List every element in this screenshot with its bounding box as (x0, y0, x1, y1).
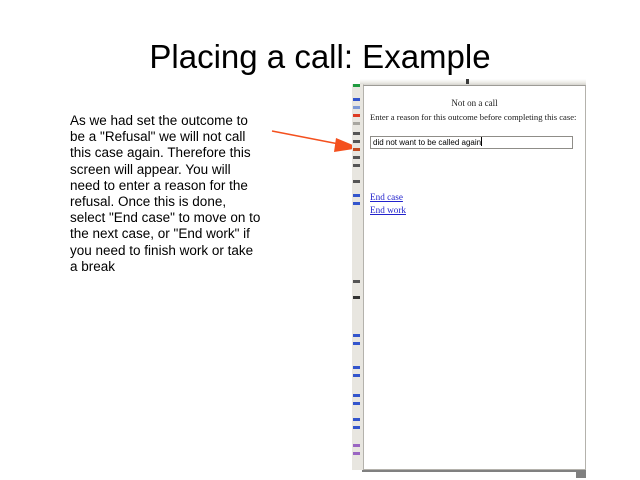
panel-heading: Not on a call (364, 98, 585, 108)
background-window-fragment (353, 148, 360, 151)
background-window-fragment (353, 114, 360, 117)
background-window-fragment (353, 132, 360, 135)
end-work-link[interactable]: End work (370, 204, 406, 217)
background-window-fragment (353, 98, 360, 101)
background-window-fragment (353, 280, 360, 283)
not-on-a-call-panel: Not on a call Enter a reason for this ou… (363, 85, 586, 470)
background-window-fragment (353, 374, 360, 377)
slide-body-text: As we had set the outcome to be a "Refus… (70, 113, 262, 275)
background-window-fragment (353, 418, 360, 421)
page-title: Placing a call: Example (0, 38, 640, 76)
pointer-arrow-icon (270, 124, 362, 156)
background-window-fragment (353, 366, 360, 369)
panel-action-links: End case End work (370, 191, 406, 217)
background-window-fragment (353, 452, 360, 455)
background-window-fragment (353, 444, 360, 447)
background-window-fragment (353, 342, 360, 345)
presentation-slide: Placing a call: Example As we had set th… (0, 0, 640, 480)
panel-instruction-text: Enter a reason for this outcome before c… (370, 112, 582, 123)
background-window-fragment (353, 426, 360, 429)
embedded-screenshot: Not on a call Enter a reason for this ou… (352, 76, 590, 473)
background-window-fragment (353, 156, 360, 159)
reason-input[interactable]: did not want to be called again (370, 136, 573, 149)
toolbar-tick-marker (466, 79, 469, 84)
background-window-fragment (353, 202, 360, 205)
background-window-fragment (353, 180, 360, 183)
background-window-fragment (353, 84, 360, 87)
background-window-fragment (353, 106, 360, 109)
background-window-fragment (353, 334, 360, 337)
background-window-fragment (353, 296, 360, 299)
background-window-fragment (353, 122, 360, 125)
end-case-link[interactable]: End case (370, 191, 406, 204)
background-window-fragment (353, 402, 360, 405)
background-window-fragment (353, 394, 360, 397)
background-window-fragment (353, 164, 360, 167)
text-cursor (481, 137, 482, 146)
background-window-fragment (353, 140, 360, 143)
background-window-fragment (353, 194, 360, 197)
reason-input-value: did not want to be called again (373, 138, 481, 147)
